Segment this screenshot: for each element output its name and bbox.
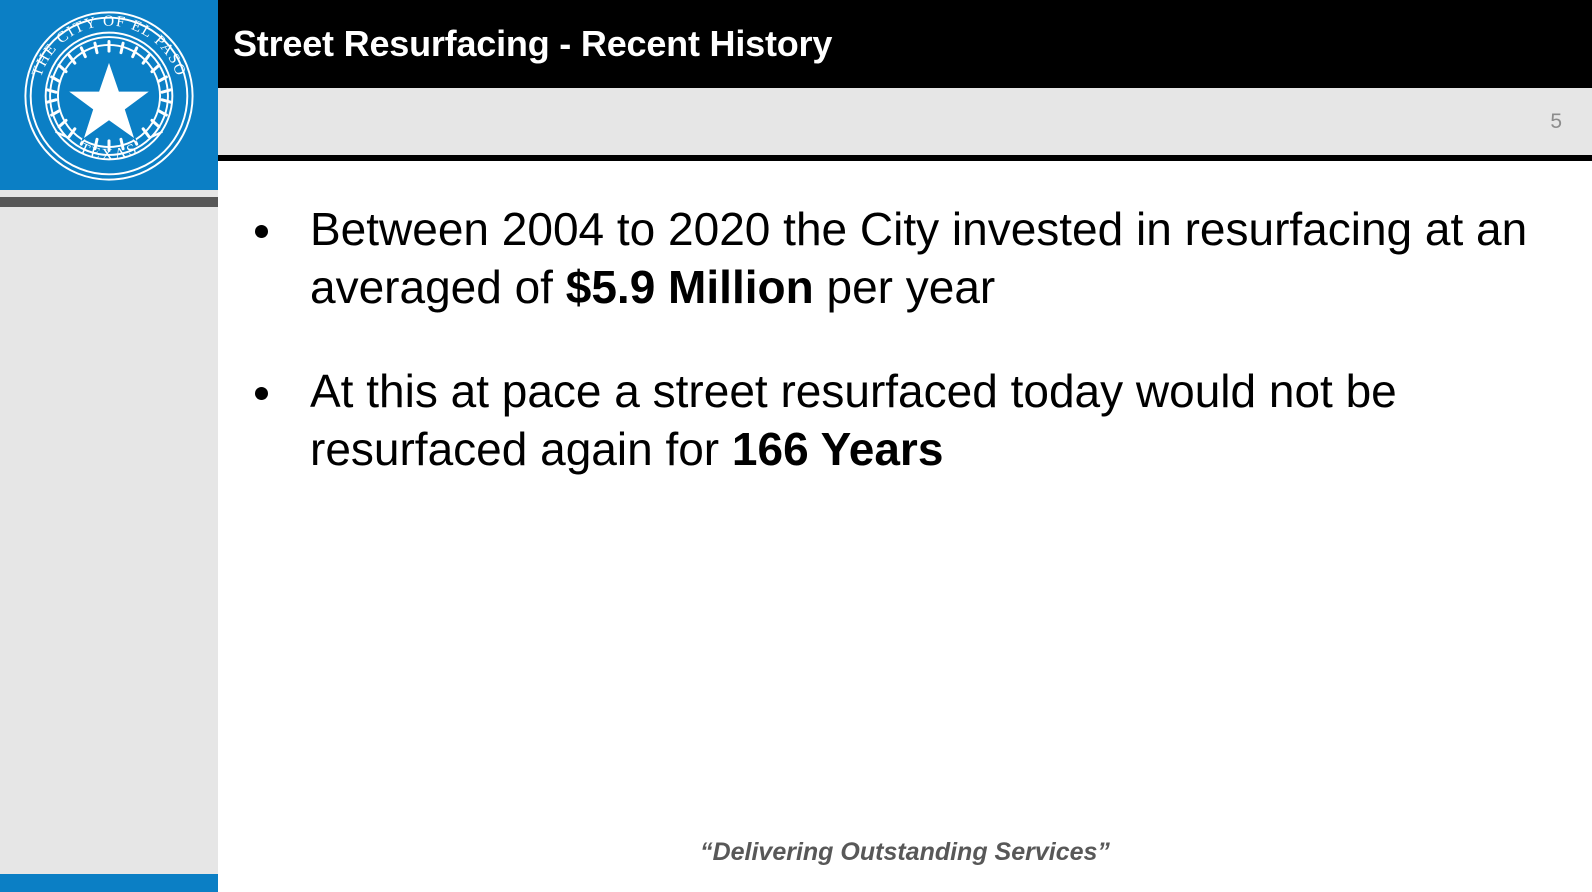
- logo-panel: THE CITY OF EL PASO TEXAS: [0, 0, 218, 190]
- title-bar: Street Resurfacing - Recent History: [218, 0, 1592, 88]
- sidebar-divider: [0, 197, 218, 207]
- sidebar-footer-bar: [0, 874, 218, 892]
- bullet-item: Between 2004 to 2020 the City invested i…: [245, 201, 1552, 317]
- bullet-emphasis: 166 Years: [732, 423, 944, 475]
- bullet-list: Between 2004 to 2020 the City invested i…: [218, 161, 1592, 479]
- subheader-band: 5: [218, 88, 1592, 155]
- city-of-el-paso-seal-icon: THE CITY OF EL PASO TEXAS: [21, 8, 197, 184]
- bullet-dot-icon: [255, 225, 268, 238]
- bullet-text: Between 2004 to 2020 the City invested i…: [310, 203, 1527, 313]
- sidebar: THE CITY OF EL PASO TEXAS: [0, 0, 218, 892]
- footer: “Delivering Outstanding Services”: [218, 838, 1592, 884]
- bullet-emphasis: $5.9 Million: [566, 261, 814, 313]
- star-emblem-icon: [67, 61, 151, 140]
- sidebar-gap: [0, 190, 218, 197]
- footer-tagline: “Delivering Outstanding Services”: [700, 838, 1110, 866]
- slide-content: Between 2004 to 2020 the City invested i…: [218, 161, 1592, 892]
- bullet-text: At this at pace a street resurfaced toda…: [310, 365, 1397, 475]
- bullet-text-run: per year: [814, 261, 996, 313]
- page-title: Street Resurfacing - Recent History: [233, 23, 832, 65]
- bullet-dot-icon: [255, 387, 268, 400]
- sidebar-panel: [0, 207, 218, 874]
- page-number: 5: [1550, 110, 1562, 134]
- slide: THE CITY OF EL PASO TEXAS Street Resurfa…: [0, 0, 1592, 892]
- bullet-item: At this at pace a street resurfaced toda…: [245, 363, 1552, 479]
